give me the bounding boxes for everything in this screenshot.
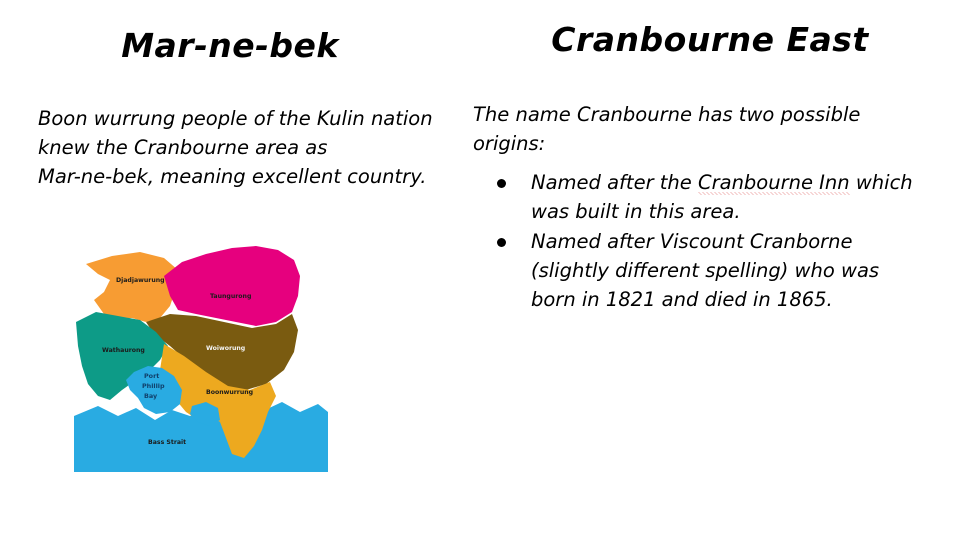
region-taungurong	[164, 246, 300, 326]
paragraph-line: Boon wurrung people of the Kulin nation	[38, 104, 434, 133]
bullet-line: Named after Viscount Cranborne	[531, 227, 973, 256]
right-column: Cranbourne East The name Cranbourne has …	[460, 0, 976, 550]
intro-line: The name Cranbourne has two possible	[473, 100, 968, 129]
page-title-right: Cranbourne East	[470, 22, 950, 58]
left-paragraph: Boon wurrung people of the Kulin nation …	[38, 104, 434, 191]
map-label-boonwurrung: Boonwurrung	[206, 389, 253, 396]
left-column: Mar-ne-bek Boon wurrung people of the Ku…	[0, 0, 460, 550]
list-item: Named after Viscount Cranborne (slightly…	[473, 227, 973, 314]
intro-line: origins:	[473, 129, 968, 158]
bullet-dot-icon	[497, 179, 506, 188]
page-title-left: Mar-ne-bek	[20, 28, 440, 64]
slide-canvas: Mar-ne-bek Boon wurrung people of the Ku…	[0, 0, 976, 550]
paragraph-line: Mar-ne-bek, meaning excellent country.	[38, 162, 434, 191]
paragraph-line: knew the Cranbourne area as	[38, 133, 434, 162]
bullet-dot-icon	[497, 238, 506, 247]
map-label-port-phillip-bay-line3: Bay	[144, 392, 158, 400]
region-djadjawurung	[86, 252, 178, 322]
origins-bullet-list: Named after the Cranbourne Inn which was…	[473, 168, 973, 315]
map-label-taungurong: Taungurong	[210, 293, 251, 300]
right-intro-paragraph: The name Cranbourne has two possible ori…	[473, 100, 968, 158]
bullet-line: (slightly different spelling) who was	[531, 256, 973, 285]
map-label-port-phillip-bay-line2: Phillip	[142, 382, 165, 390]
kulin-nation-map: Djadjawurung Taungurong Wathaurong Woiwo…	[60, 240, 340, 480]
bullet-line: was built in this area.	[531, 197, 973, 226]
map-label-wathaurong: Wathaurong	[102, 347, 145, 354]
spellcheck-underlined-text: Cranbourne Inn	[698, 171, 850, 195]
map-label-bass-strait: Bass Strait	[148, 439, 186, 446]
map-label-woiworung: Woiworung	[206, 345, 245, 352]
bullet-text-pre: Named after the	[531, 171, 698, 194]
bullet-line: Named after the Cranbourne Inn which	[531, 168, 973, 197]
bullet-text-post: which	[850, 171, 913, 194]
map-label-djadjawurung: Djadjawurung	[116, 277, 165, 284]
map-label-port-phillip-bay-line1: Port	[144, 372, 159, 380]
list-item: Named after the Cranbourne Inn which was…	[473, 168, 973, 226]
bullet-line: born in 1821 and died in 1865.	[531, 285, 973, 314]
